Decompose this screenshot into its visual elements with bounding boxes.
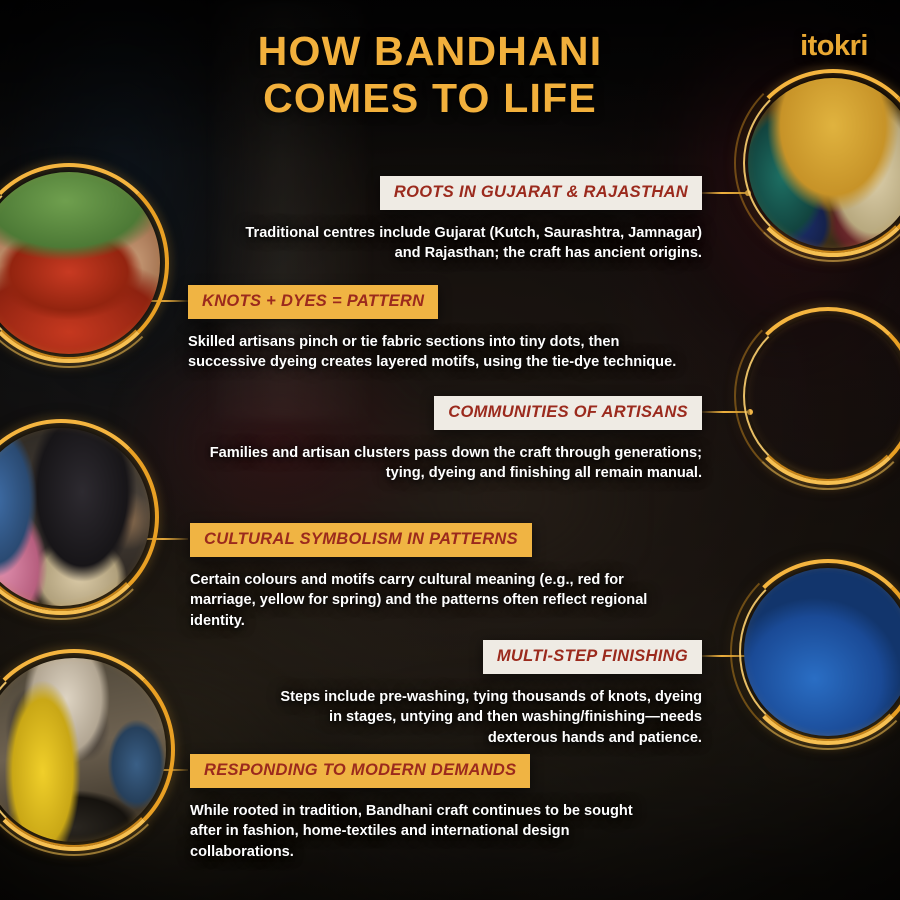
badge-row: CULTURAL SYMBOLISM IN PATTERNS — [190, 523, 670, 557]
badge-row: RESPONDING TO MODERN DEMANDS — [190, 754, 660, 788]
infographic-canvas: HOW BANDHANI COMES TO LIFE itokri — [0, 0, 900, 900]
photo-dyer-indigo-vat — [748, 316, 900, 476]
title-line-1: HOW BANDHANI — [140, 28, 720, 75]
section-badge-knots[interactable]: KNOTS + DYES = PATTERN — [188, 285, 438, 319]
section-body-symbolism: Certain colours and motifs carry cultura… — [190, 570, 670, 631]
section-roots: ROOTS IN GUJARAT & RAJASTHAN Traditional… — [240, 176, 702, 264]
section-badge-finishing[interactable]: MULTI-STEP FINISHING — [483, 640, 702, 674]
section-badge-symbolism[interactable]: CULTURAL SYMBOLISM IN PATTERNS — [190, 523, 532, 557]
badge-row: KNOTS + DYES = PATTERN — [188, 285, 680, 319]
section-knots: KNOTS + DYES = PATTERN Skilled artisans … — [188, 285, 680, 373]
page-title: HOW BANDHANI COMES TO LIFE — [0, 28, 900, 121]
badge-row: ROOTS IN GUJARAT & RAJASTHAN — [240, 176, 702, 210]
brand-logo[interactable]: itokri — [800, 30, 868, 63]
section-body-finishing: Steps include pre-washing, tying thousan… — [266, 687, 702, 748]
section-body-modern: While rooted in tradition, Bandhani craf… — [190, 801, 660, 862]
section-modern: RESPONDING TO MODERN DEMANDS While roote… — [190, 754, 660, 862]
title-line-2: COMES TO LIFE — [140, 75, 720, 122]
badge-row: COMMUNITIES OF ARTISANS — [205, 396, 702, 430]
connector-line-communities — [702, 411, 750, 413]
section-body-knots: Skilled artisans pinch or tie fabric sec… — [188, 332, 680, 373]
section-badge-roots[interactable]: ROOTS IN GUJARAT & RAJASTHAN — [380, 176, 702, 210]
photo-medallion-dyer-indigo-vat — [748, 316, 900, 476]
section-body-roots: Traditional centres include Gujarat (Kut… — [240, 223, 702, 264]
connector-line-finishing — [700, 655, 748, 657]
section-badge-communities[interactable]: COMMUNITIES OF ARTISANS — [434, 396, 702, 430]
connector-line-roots — [700, 192, 748, 194]
section-symbolism: CULTURAL SYMBOLISM IN PATTERNS Certain c… — [190, 523, 670, 631]
section-body-communities: Families and artisan clusters pass down … — [205, 443, 702, 484]
photo-indigo-dye-vat — [744, 568, 900, 736]
section-communities: COMMUNITIES OF ARTISANS Families and art… — [205, 396, 702, 484]
photo-medallion-indigo-dye-vat — [744, 568, 900, 736]
section-finishing: MULTI-STEP FINISHING Steps include pre-w… — [266, 640, 702, 748]
section-badge-modern[interactable]: RESPONDING TO MODERN DEMANDS — [190, 754, 530, 788]
badge-row: MULTI-STEP FINISHING — [266, 640, 702, 674]
